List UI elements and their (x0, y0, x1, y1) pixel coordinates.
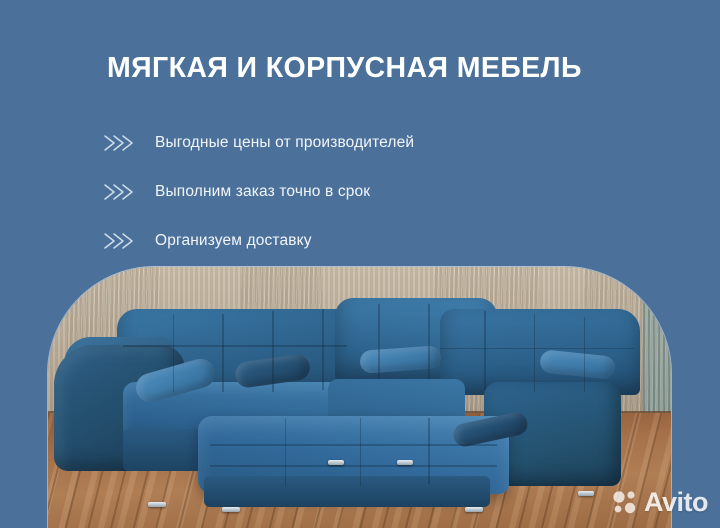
sofa-leg (397, 460, 413, 465)
list-item-label: Организуем доставку (155, 232, 312, 250)
photo-scene (48, 267, 671, 528)
sofa-leg (465, 507, 483, 512)
list-item: Выгодные цены от производителей (103, 118, 623, 167)
sofa-leg (148, 502, 166, 507)
triple-chevron-right-icon (103, 230, 137, 252)
advertisement-banner: МЯГКАЯ И КОРПУСНАЯ МЕБЕЛЬ Выгодные цены … (0, 0, 720, 528)
list-item-label: Выполним заказ точно в срок (155, 183, 370, 201)
list-item-label: Выгодные цены от производителей (155, 134, 414, 152)
sofa-leg (222, 507, 240, 512)
triple-chevron-right-icon (103, 132, 137, 154)
triple-chevron-right-icon (103, 181, 137, 203)
sofa-leg (328, 460, 344, 465)
list-item: Выполним заказ точно в срок (103, 167, 623, 216)
list-item: Организуем доставку (103, 216, 623, 265)
page-title: МЯГКАЯ И КОРПУСНАЯ МЕБЕЛЬ (107, 52, 647, 85)
sofa-leg (578, 491, 594, 496)
feature-list: Выгодные цены от производителей Выполним… (103, 118, 623, 265)
product-photo (47, 266, 672, 528)
